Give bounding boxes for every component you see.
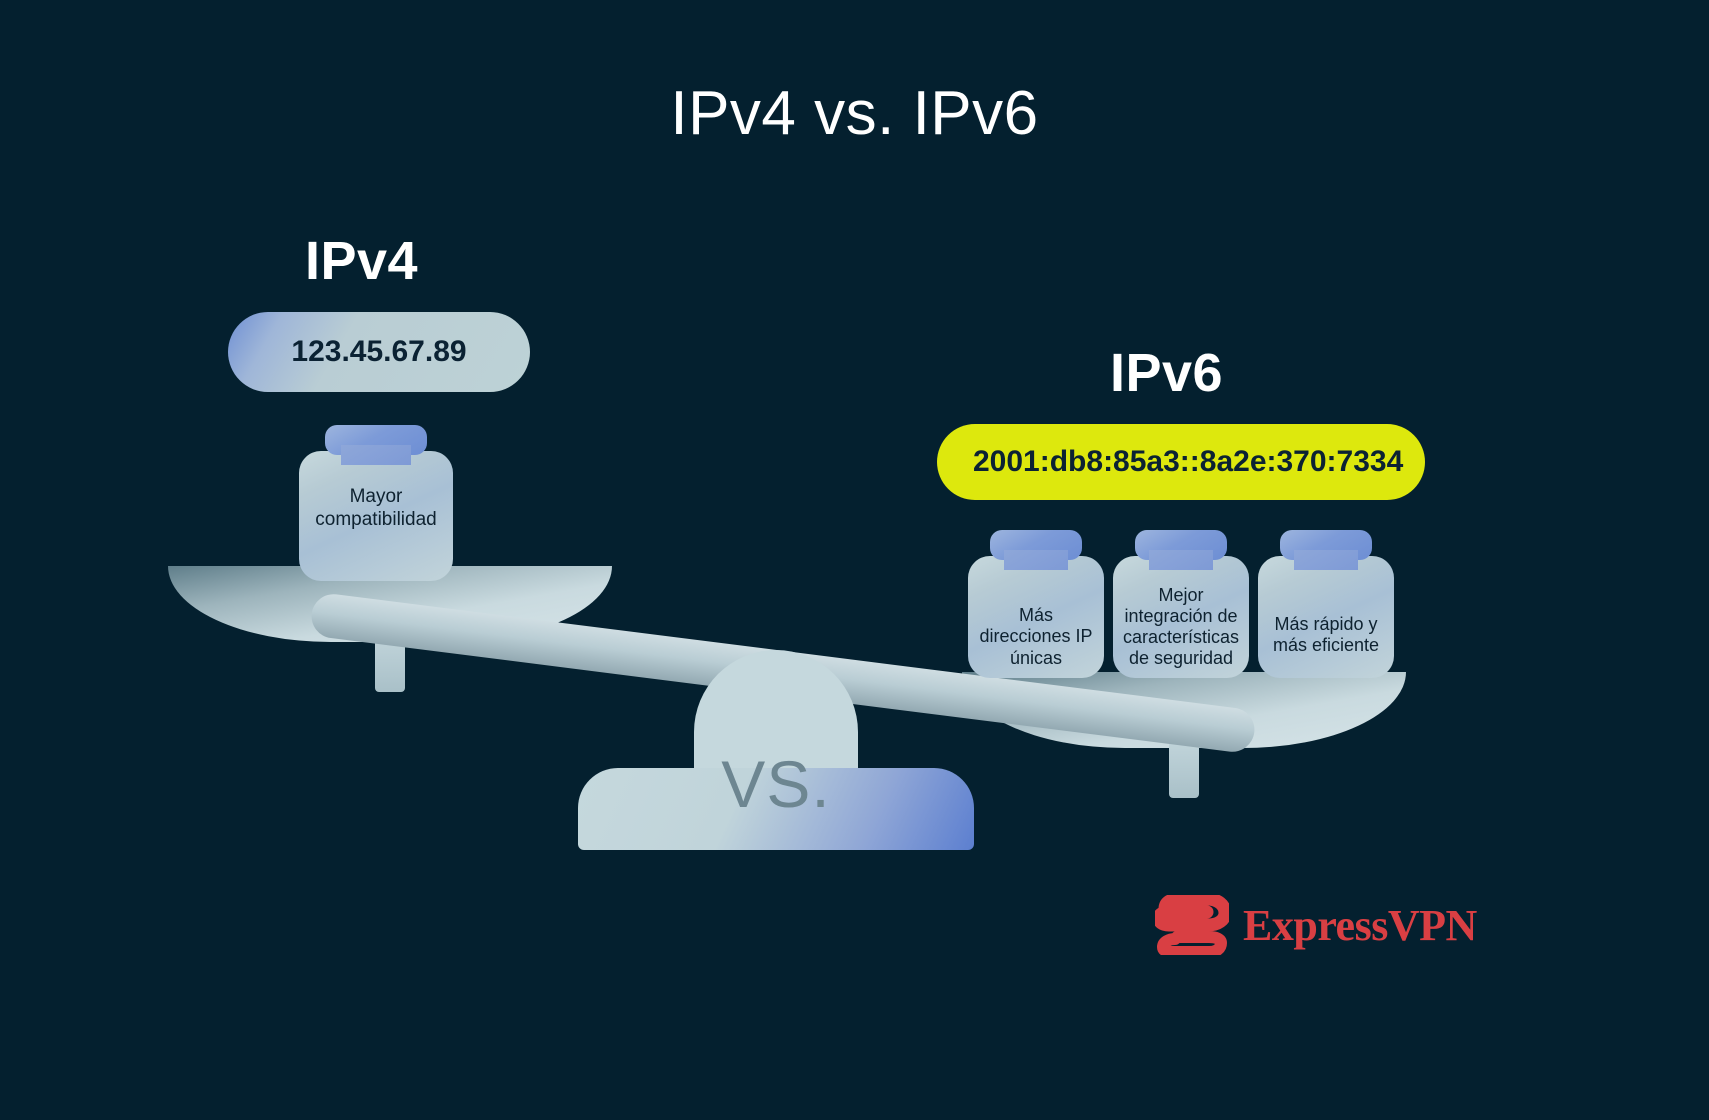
weight-bottle: Mejor integración de características de …: [1113, 556, 1249, 678]
weight-bottle: Más direcciones IP únicas: [968, 556, 1104, 678]
ipv4-heading: IPv4: [305, 230, 418, 292]
ipv4-address-text: 123.45.67.89: [291, 335, 466, 369]
infographic-canvas: IPv4 vs. IPv6 IPv4 123.45.67.89 IPv6 200…: [0, 0, 1709, 1120]
bottle-label: Mejor integración de características de …: [1119, 561, 1243, 670]
bottle-label: Más rápido y más eficiente: [1264, 574, 1388, 656]
ipv6-address-pill: 2001:db8:85a3::8a2e:370:7334: [937, 424, 1425, 500]
versus-label: VS.: [578, 746, 974, 822]
expressvpn-wordmark: ExpressVPN: [1243, 900, 1477, 951]
ipv4-address-pill: 123.45.67.89: [228, 312, 530, 392]
weight-bottle: Más rápido y más eficiente: [1258, 556, 1394, 678]
bottle-neck: [1004, 550, 1068, 570]
bottle-neck: [1149, 550, 1213, 570]
expressvpn-logo: ExpressVPN: [1155, 895, 1477, 955]
expressvpn-mark-icon: [1155, 895, 1229, 955]
bottle-neck: [341, 445, 411, 465]
weight-bottle: Mayor compatibilidad: [299, 451, 453, 581]
bottle-label: Más direcciones IP únicas: [974, 561, 1098, 669]
scale-fulcrum: VS.: [578, 650, 974, 850]
bottle-label: Mayor compatibilidad: [305, 486, 447, 571]
bottle-neck: [1294, 550, 1358, 570]
ipv6-heading: IPv6: [1110, 342, 1223, 404]
page-title: IPv4 vs. IPv6: [0, 78, 1709, 149]
ipv6-address-text: 2001:db8:85a3::8a2e:370:7334: [973, 445, 1403, 479]
